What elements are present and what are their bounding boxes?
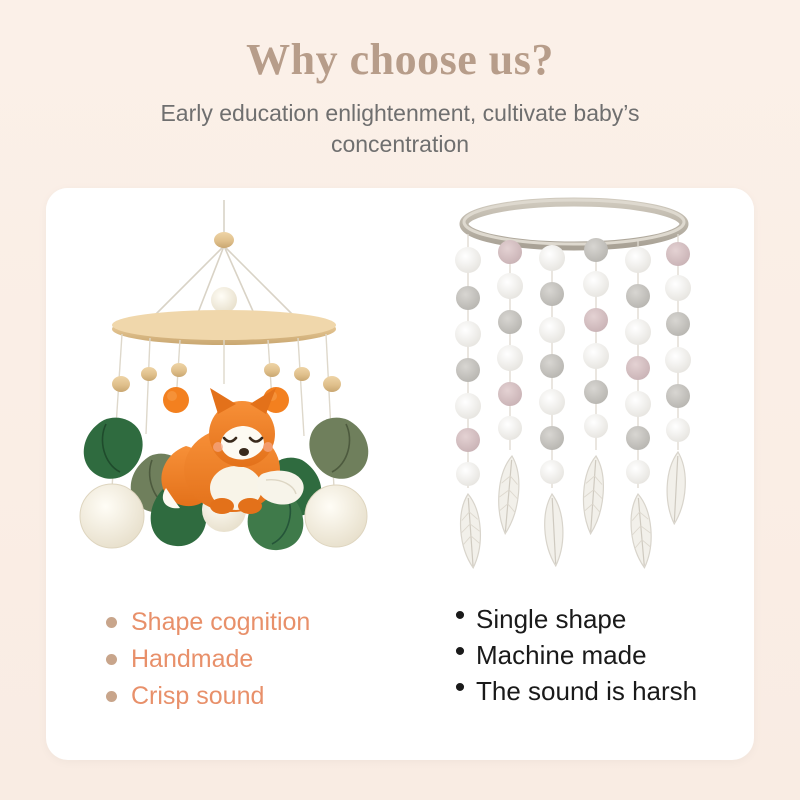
header: Why choose us? Early education enlighten… bbox=[0, 0, 800, 160]
fox-mobile-illustration bbox=[46, 188, 406, 602]
photo-row bbox=[46, 188, 754, 602]
comparison-lists: Shape cognition Handmade Crisp sound • S… bbox=[46, 602, 754, 760]
pros-list: Shape cognition Handmade Crisp sound bbox=[46, 602, 396, 760]
list-item: Handmade bbox=[106, 647, 396, 672]
dot-bullet-icon: • bbox=[454, 682, 466, 694]
list-item: • The sound is harsh bbox=[454, 678, 754, 704]
dot-bullet-icon bbox=[106, 654, 117, 665]
pros-item-label: Handmade bbox=[131, 647, 253, 672]
cons-item-label: Machine made bbox=[476, 642, 647, 668]
page-subtitle: Early education enlightenment, cultivate… bbox=[120, 98, 680, 160]
cons-list: • Single shape • Machine made • The soun… bbox=[396, 602, 754, 760]
list-item: • Machine made bbox=[454, 642, 754, 668]
pompom-mobile-illustration bbox=[406, 188, 754, 602]
fox-felt-baby-mobile-photo bbox=[46, 188, 406, 602]
wood-bead-icon bbox=[214, 232, 234, 248]
dot-bullet-icon bbox=[106, 617, 117, 628]
wooden-hoop bbox=[112, 310, 336, 345]
pros-item-label: Crisp sound bbox=[131, 684, 264, 709]
list-item: Shape cognition bbox=[106, 610, 396, 635]
comparison-card: Shape cognition Handmade Crisp sound • S… bbox=[46, 188, 754, 760]
list-item: Crisp sound bbox=[106, 684, 396, 709]
dot-bullet-icon bbox=[106, 691, 117, 702]
pom-pom-icon bbox=[211, 287, 237, 313]
list-item: • Single shape bbox=[454, 606, 754, 632]
page-root: Why choose us? Early education enlighten… bbox=[0, 0, 800, 800]
dot-bullet-icon: • bbox=[454, 646, 466, 658]
pom-pom-baby-mobile-photo bbox=[406, 188, 754, 602]
page-title: Why choose us? bbox=[0, 36, 800, 84]
pros-item-label: Shape cognition bbox=[131, 610, 310, 635]
dot-bullet-icon: • bbox=[454, 610, 466, 622]
cons-item-label: The sound is harsh bbox=[476, 678, 697, 704]
cons-item-label: Single shape bbox=[476, 606, 626, 632]
